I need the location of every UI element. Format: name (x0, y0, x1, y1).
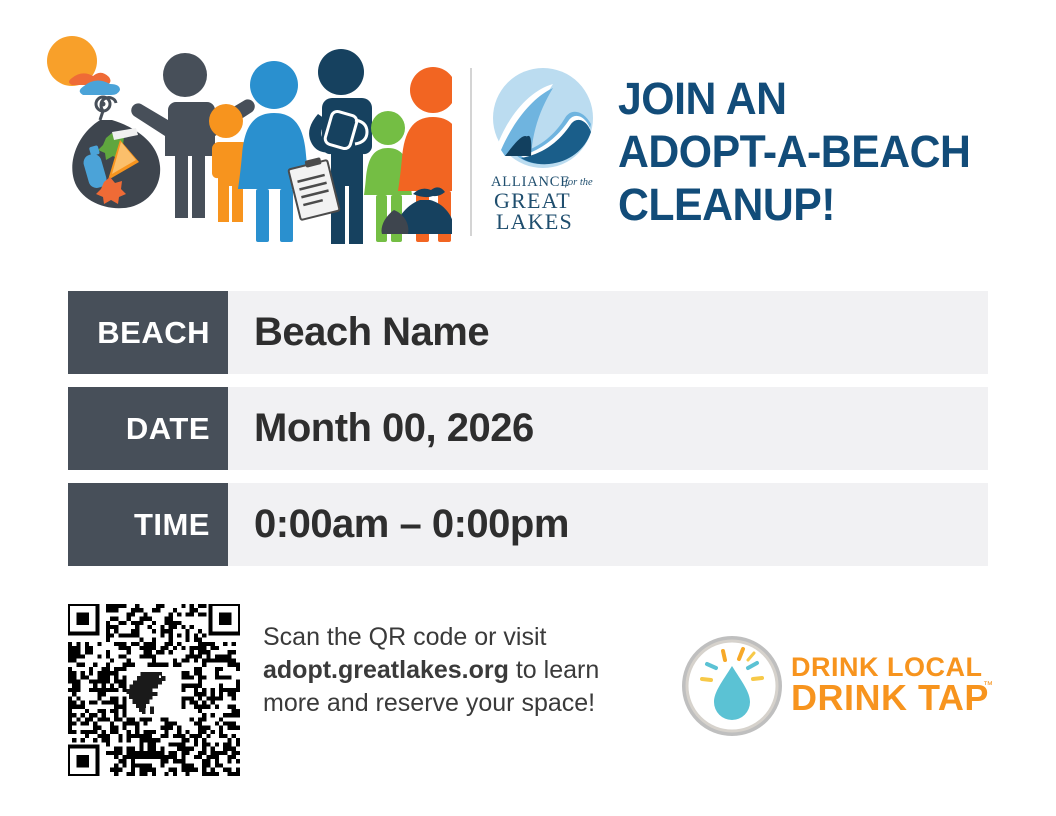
detail-label-beach: BEACH (68, 291, 228, 374)
detail-value-time: 0:00am – 0:00pm (228, 483, 988, 566)
water-drop-icon (678, 632, 786, 740)
detail-row-beach: BEACH Beach Name (68, 291, 988, 374)
logo-line-forthe: for the (565, 177, 593, 188)
great-lakes-wave-icon (491, 66, 595, 170)
dltt-trademark: ™ (983, 680, 993, 691)
header: ALLIANCE for the GREAT LAKES JOIN AN ADO… (0, 0, 1056, 270)
detail-value-beach: Beach Name (228, 291, 988, 374)
detail-label-date: DATE (68, 387, 228, 470)
detail-row-time: TIME 0:00am – 0:00pm (68, 483, 988, 566)
headline-line-2: ADOPT-A-BEACH (618, 125, 1017, 178)
detail-label-time: TIME (68, 483, 228, 566)
drink-local-drink-tap-logo: DRINK LOCAL DRINK TAP ™ (678, 632, 993, 742)
scan-instructions: Scan the QR code or visit adopt.greatlak… (263, 621, 663, 720)
drink-local-drink-tap-wordmark: DRINK LOCAL DRINK TAP ™ (791, 648, 996, 728)
detail-row-date: DATE Month 00, 2026 (68, 387, 988, 470)
scan-url: adopt.greatlakes.org (263, 656, 509, 684)
qr-code[interactable] (68, 604, 240, 776)
alliance-great-lakes-wordmark: ALLIANCE for the GREAT LAKES (487, 172, 599, 232)
volunteers-illustration (42, 28, 452, 246)
header-divider (470, 68, 472, 236)
dltt-line-2: DRINK TAP (791, 677, 989, 718)
alliance-great-lakes-logo: ALLIANCE for the GREAT LAKES (487, 66, 599, 236)
detail-value-date: Month 00, 2026 (228, 387, 988, 470)
qr-code-image[interactable] (68, 604, 240, 776)
scan-text-before: Scan the QR code or visit (263, 623, 546, 651)
headline-line-3: CLEANUP! (618, 178, 1017, 231)
headline-line-1: JOIN AN (618, 72, 1017, 125)
page-headline: JOIN AN ADOPT-A-BEACH CLEANUP! (618, 72, 1017, 231)
logo-line-lakes: LAKES (496, 209, 573, 232)
event-details: BEACH Beach Name DATE Month 00, 2026 TIM… (68, 291, 988, 579)
